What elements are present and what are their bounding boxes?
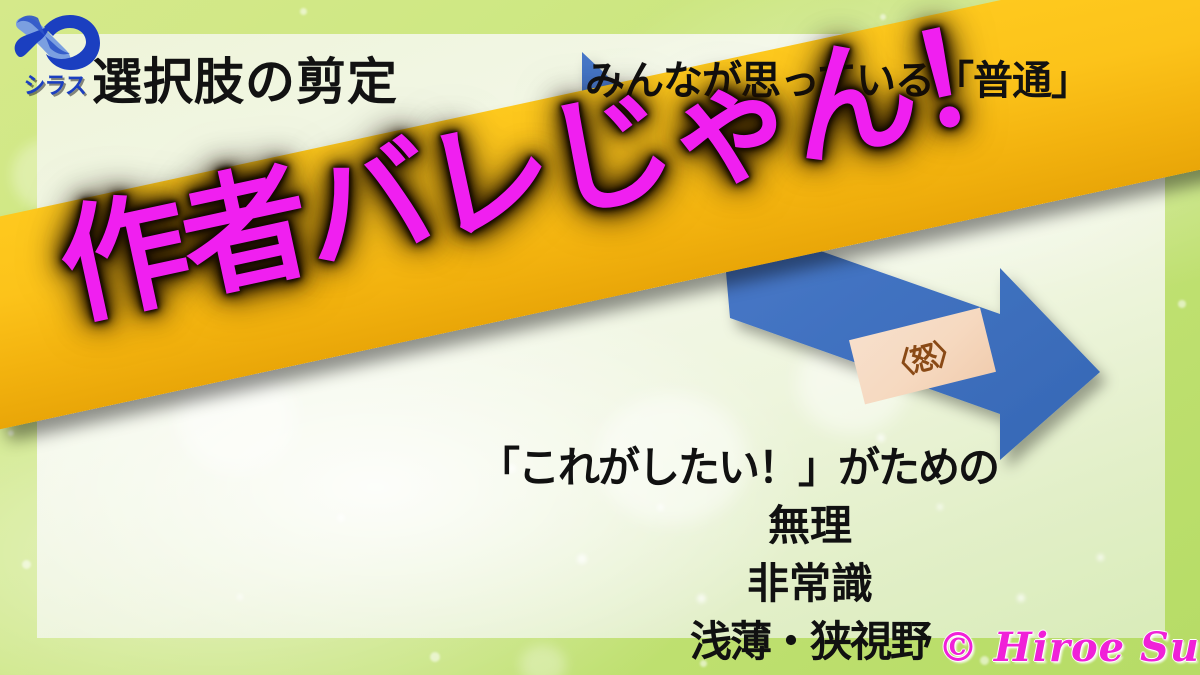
bokeh-dot — [300, 8, 307, 15]
subtext-line-2: 非常識 — [480, 550, 1140, 611]
logo-wordmark: シラス — [24, 66, 86, 100]
bokeh-dot — [237, 594, 243, 600]
bokeh-dot — [1178, 300, 1186, 308]
anger-tag-label: 〈怒〉 — [881, 326, 964, 387]
slide-canvas: 〈怒〉 みんなが思っている「普通」 作者バレじゃん！ 「これがしたい！」がための… — [0, 0, 1200, 675]
bokeh-dot — [22, 560, 31, 569]
subtext-line-1: 無理 — [480, 492, 1140, 553]
bokeh-dot — [430, 652, 440, 662]
subtext-lead: 「これがしたい！」がための — [478, 434, 998, 495]
bokeh-dot — [337, 514, 345, 522]
page-title: 選択肢の剪定 — [92, 42, 398, 114]
signature-watermark: © Hiroe Suga — [938, 624, 1200, 671]
bokeh-dot — [8, 430, 14, 436]
shirasu-logo: シラス — [6, 8, 110, 104]
bokeh-dot — [1057, 394, 1066, 403]
